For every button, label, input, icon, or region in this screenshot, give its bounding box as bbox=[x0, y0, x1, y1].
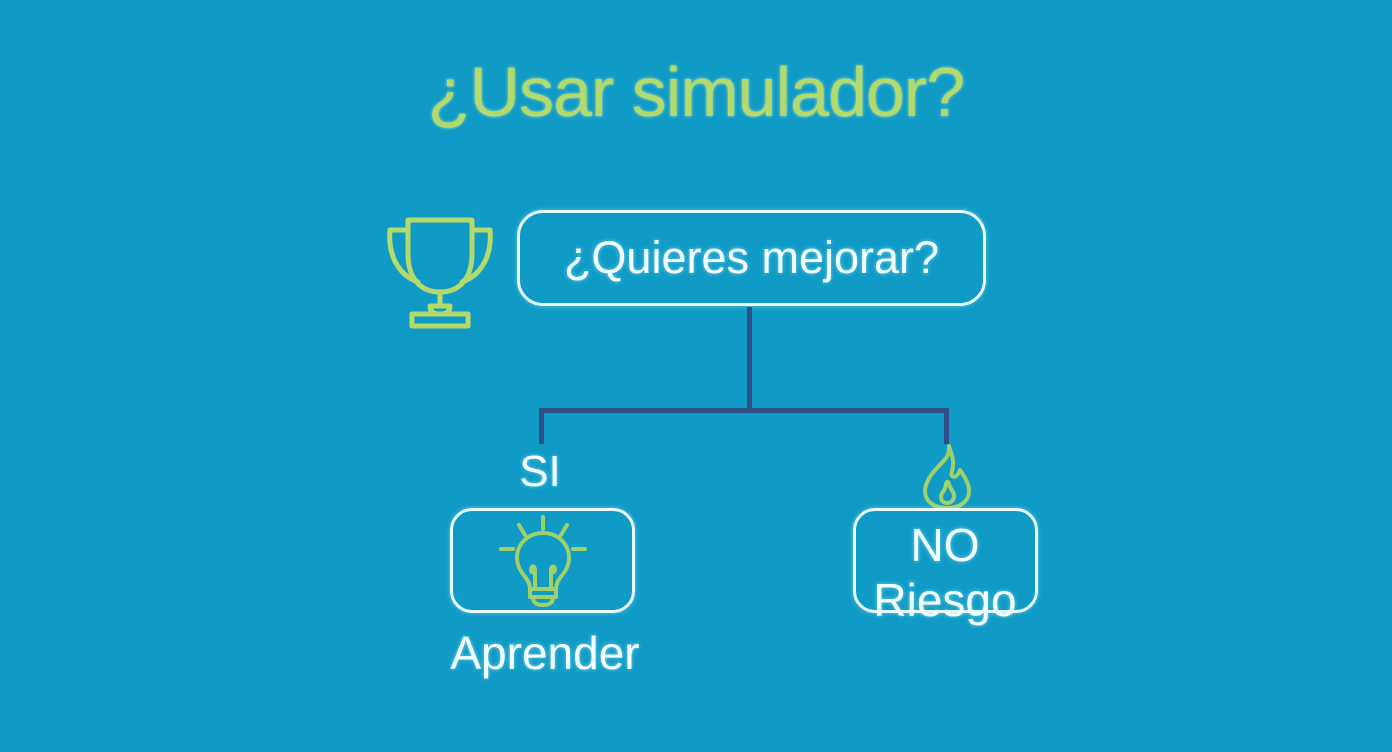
page-title: ¿Usar simulador? bbox=[0, 52, 1392, 132]
root-question-box[interactable]: ¿Quieres mejorar? bbox=[517, 210, 986, 306]
connector-horizontal-bar bbox=[539, 408, 949, 413]
branch-label-no: NO bbox=[845, 518, 1045, 572]
root-question-label: ¿Quieres mejorar? bbox=[564, 232, 939, 284]
connector-stem bbox=[747, 307, 752, 413]
connector-left-drop bbox=[539, 408, 544, 444]
branch-label-si: SI bbox=[470, 447, 610, 497]
slide-canvas: ¿Usar simulador? ¿Quieres mejorar? SI bbox=[0, 0, 1392, 752]
left-outcome-label: Aprender bbox=[420, 626, 670, 680]
lightbulb-icon bbox=[497, 513, 589, 609]
flame-icon bbox=[917, 443, 977, 511]
trophy-icon bbox=[378, 208, 502, 330]
connector-right-drop bbox=[944, 408, 949, 444]
right-outcome-label: Riesgo bbox=[845, 573, 1045, 627]
